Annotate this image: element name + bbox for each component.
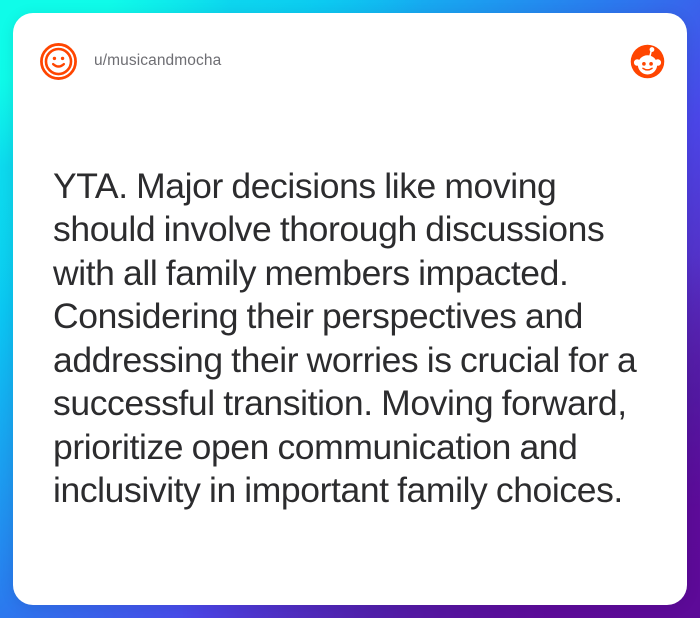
reddit-snoo-logo-icon[interactable]	[630, 44, 665, 79]
reddit-post-card-screen: u/musicandmocha YTA. Major decisions lik…	[0, 0, 700, 618]
post-body-text: YTA. Major decisions like moving should …	[53, 165, 661, 513]
post-author-username[interactable]: u/musicandmocha	[94, 52, 630, 70]
smiley-face-avatar-icon[interactable]	[39, 42, 78, 81]
post-header: u/musicandmocha	[13, 13, 687, 109]
reddit-post-card: u/musicandmocha YTA. Major decisions lik…	[13, 13, 687, 605]
